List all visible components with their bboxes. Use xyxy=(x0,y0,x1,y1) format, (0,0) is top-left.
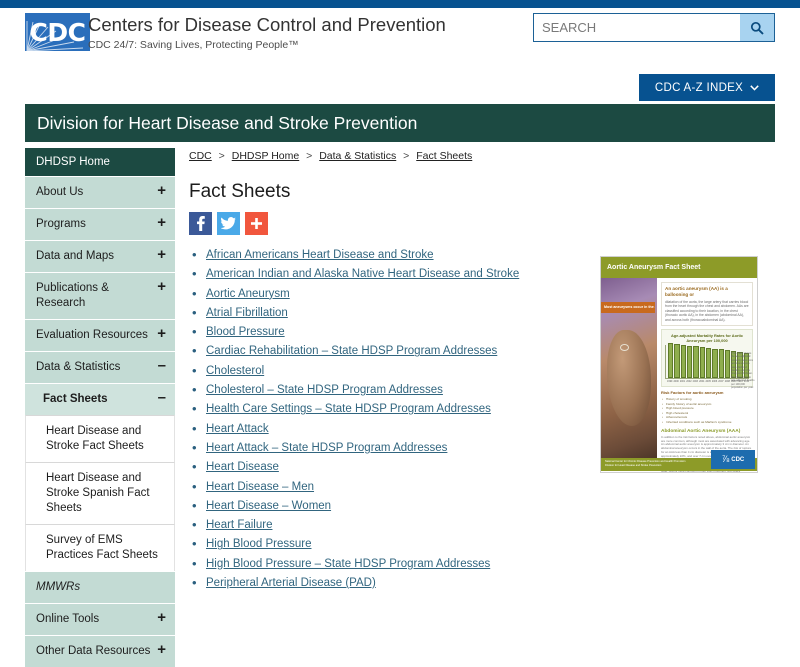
collapse-minus-icon[interactable]: – xyxy=(158,358,166,374)
thumbnail-chart-title: Age-adjusted Mortality Rates for Aortic … xyxy=(665,333,749,343)
chart-bar xyxy=(706,348,711,378)
division-banner: Division for Heart Disease and Stroke Pr… xyxy=(25,104,775,142)
sidebar-item-online-tools[interactable]: Online Tools + xyxy=(25,603,175,635)
sidebar-subitem-label: Heart Disease and Stroke Fact Sheets xyxy=(46,425,144,452)
chart-tick: 2007 xyxy=(718,380,723,383)
chart-bar xyxy=(687,346,692,378)
chart-tick: 2003 xyxy=(693,380,698,383)
sidebar-item-dhdsp-home[interactable]: DHDSP Home xyxy=(25,148,175,176)
chart-bar xyxy=(668,343,673,378)
fact-sheet-link[interactable]: Health Care Settings – State HDSP Progra… xyxy=(206,403,491,415)
search-button[interactable] xyxy=(740,14,774,41)
thumbnail-title: Aortic Aneurysm Fact Sheet xyxy=(607,264,701,271)
fact-sheet-link[interactable]: Heart Attack – State HDSP Program Addres… xyxy=(206,442,447,454)
sidebar-item-label: Programs xyxy=(36,218,86,230)
twitter-share-button[interactable] xyxy=(217,212,240,235)
sidebar-item-other-data-resources[interactable]: Other Data Resources + xyxy=(25,635,175,667)
breadcrumb-item-dhdsp-home[interactable]: DHDSP Home xyxy=(232,150,300,162)
cdc-az-index-button[interactable]: CDC A-Z INDEX xyxy=(639,74,775,101)
list-item: African Americans Heart Disease and Stro… xyxy=(189,249,589,262)
chart-tick: 2001 xyxy=(680,380,685,383)
list-item: Inherited conditions such as Marfan's sy… xyxy=(666,420,753,425)
thumbnail-photo-hand xyxy=(607,330,651,426)
chart-bar xyxy=(725,350,730,378)
fact-sheet-link[interactable]: Peripheral Arterial Disease (PAD) xyxy=(206,577,376,589)
agency-title: Centers for Disease Control and Preventi… xyxy=(88,14,446,36)
expand-plus-icon[interactable]: + xyxy=(157,326,166,342)
sidebar-navigation: DHDSP Home About Us + Programs + Data an… xyxy=(25,148,175,667)
chart-tick: 2006 xyxy=(712,380,717,383)
sidebar-item-label: Evaluation Resources xyxy=(36,329,148,341)
sidebar-item-label: Other Data Resources xyxy=(36,645,150,657)
thumbnail-chart-note: This graph shows the age-adjusted mortal… xyxy=(731,352,755,389)
fact-sheet-thumbnail[interactable]: Aortic Aneurysm Fact Sheet Most aneurysm… xyxy=(600,256,758,473)
sidebar-item-label: Online Tools xyxy=(36,613,99,625)
fact-sheet-link-list: African Americans Heart Disease and Stro… xyxy=(189,249,589,590)
sidebar-item-programs[interactable]: Programs + xyxy=(25,208,175,240)
chevron-down-icon xyxy=(750,85,759,91)
list-item: Heart Failure xyxy=(189,519,589,532)
sidebar-item-label: DHDSP Home xyxy=(36,156,110,168)
sidebar-item-label: About Us xyxy=(36,186,83,198)
more-share-button[interactable] xyxy=(245,212,268,235)
sidebar-item-label: Publications & Research xyxy=(36,282,109,309)
expand-plus-icon[interactable]: + xyxy=(157,183,166,199)
thumbnail-risk-list: History of smoking Family history of aor… xyxy=(661,397,753,425)
expand-plus-icon[interactable]: + xyxy=(157,642,166,658)
sidebar-subitem-label: Survey of EMS Practices Fact Sheets xyxy=(46,534,158,561)
fact-sheet-link[interactable]: Blood Pressure xyxy=(206,326,285,338)
fact-sheet-link[interactable]: Atrial Fibrillation xyxy=(206,307,288,319)
masthead-text-block: Centers for Disease Control and Preventi… xyxy=(88,14,446,51)
social-share-row xyxy=(189,212,589,235)
sidebar-item-fact-sheets[interactable]: Fact Sheets – xyxy=(25,383,175,415)
caduceus-icon: ⅞ xyxy=(722,455,730,464)
plus-icon xyxy=(250,217,263,230)
twitter-icon xyxy=(221,217,236,230)
sidebar-subitem-spanish-fact-sheets[interactable]: Heart Disease and Stroke Spanish Fact Sh… xyxy=(25,462,175,524)
top-accent-bar xyxy=(0,0,800,8)
breadcrumb-separator: > xyxy=(403,150,409,162)
sidebar-subitem-heart-disease-stroke-fact-sheets[interactable]: Heart Disease and Stroke Fact Sheets xyxy=(25,415,175,462)
chart-tick: 2004 xyxy=(699,380,704,383)
fact-sheet-link[interactable]: Cholesterol – State HDSP Program Address… xyxy=(206,384,443,396)
list-item: High Blood Pressure xyxy=(189,538,589,551)
thumbnail-photo-ring xyxy=(620,344,629,351)
cdc-logo[interactable]: CDC xyxy=(25,13,90,51)
sidebar-item-evaluation-resources[interactable]: Evaluation Resources + xyxy=(25,319,175,351)
list-item: Heart Disease xyxy=(189,461,589,474)
sidebar-item-data-and-maps[interactable]: Data and Maps + xyxy=(25,240,175,272)
chart-tick: 1999 xyxy=(667,380,672,383)
breadcrumb-item-cdc[interactable]: CDC xyxy=(189,150,212,162)
list-item: Cholesterol xyxy=(189,365,589,378)
thumbnail-footer-text: National Center for Chronic Disease Prev… xyxy=(605,460,685,468)
fact-sheet-link[interactable]: American Indian and Alaska Native Heart … xyxy=(206,268,519,280)
sidebar-item-publications-research[interactable]: Publications & Research + xyxy=(25,272,175,319)
chart-tick: 2000 xyxy=(673,380,678,383)
fact-sheet-link[interactable]: Heart Disease – Women xyxy=(206,500,331,512)
search-input[interactable] xyxy=(534,14,740,41)
chart-bar xyxy=(719,349,724,378)
thumbnail-body: Most aneurysms occur in the aorta An aor… xyxy=(601,278,757,458)
breadcrumb-item-fact-sheets[interactable]: Fact Sheets xyxy=(416,150,472,162)
sidebar-subitem-label: Heart Disease and Stroke Spanish Fact Sh… xyxy=(46,472,150,514)
fact-sheet-link[interactable]: Cardiac Rehabilitation – State HDSP Prog… xyxy=(206,345,497,357)
fact-sheet-link[interactable]: Cholesterol xyxy=(206,365,264,377)
thumbnail-lead: An aortic aneurysm (AA) is a ballooning … xyxy=(661,282,753,326)
thumbnail-risk-title: Risk Factors for aortic aneurysm xyxy=(661,390,753,395)
breadcrumb-separator: > xyxy=(219,150,225,162)
breadcrumb-item-data-statistics[interactable]: Data & Statistics xyxy=(319,150,396,162)
chart-bar xyxy=(681,345,686,378)
thumbnail-lead-sub: dilatation of the aorta, the large arter… xyxy=(665,300,749,322)
fact-sheet-link[interactable]: High Blood Pressure xyxy=(206,538,311,550)
list-item: Heart Disease – Women xyxy=(189,500,589,513)
sidebar-item-about-us[interactable]: About Us + xyxy=(25,176,175,208)
chart-bar xyxy=(712,349,717,378)
list-item: Blood Pressure xyxy=(189,326,589,339)
sidebar-item-label: Fact Sheets xyxy=(43,393,108,405)
sidebar-item-label: Data and Maps xyxy=(36,250,114,262)
sidebar-item-label: MMWRs xyxy=(36,581,80,593)
collapse-minus-icon[interactable]: – xyxy=(158,390,166,406)
thumbnail-badge-text: CDC xyxy=(731,457,744,463)
list-item: Cholesterol – State HDSP Program Address… xyxy=(189,384,589,397)
list-item: Heart Attack – State HDSP Program Addres… xyxy=(189,442,589,455)
breadcrumb-separator: > xyxy=(306,150,312,162)
fact-sheet-link[interactable]: Heart Disease xyxy=(206,461,279,473)
thumbnail-photo-caption: Most aneurysms occur in the aorta xyxy=(601,302,655,313)
thumbnail-cdc-badge: ⅞ CDC xyxy=(711,450,755,469)
expand-plus-icon[interactable]: + xyxy=(157,247,166,263)
main-content: CDC > DHDSP Home > Data & Statistics > F… xyxy=(189,150,589,596)
breadcrumb: CDC > DHDSP Home > Data & Statistics > F… xyxy=(189,150,589,162)
list-item: Heart Disease – Men xyxy=(189,481,589,494)
chart-tick: 2005 xyxy=(705,380,710,383)
list-item: American Indian and Alaska Native Heart … xyxy=(189,268,589,281)
thumbnail-header: Aortic Aneurysm Fact Sheet xyxy=(601,257,757,278)
fact-sheet-link[interactable]: High Blood Pressure – State HDSP Program… xyxy=(206,558,490,570)
division-title: Division for Heart Disease and Stroke Pr… xyxy=(37,113,417,134)
sidebar-item-mmwrs[interactable]: MMWRs xyxy=(25,571,175,603)
cdc-az-index-label: CDC A-Z INDEX xyxy=(655,82,743,94)
fact-sheet-link[interactable]: Heart Attack xyxy=(206,423,269,435)
fact-sheet-link[interactable]: Heart Failure xyxy=(206,519,272,531)
fact-sheet-link[interactable]: Aortic Aneurysm xyxy=(206,288,290,300)
page-title: Fact Sheets xyxy=(189,181,589,203)
list-item: High Blood Pressure – State HDSP Program… xyxy=(189,558,589,571)
facebook-icon xyxy=(196,216,205,231)
list-item: Heart Attack xyxy=(189,423,589,436)
agency-tagline: CDC 24/7: Saving Lives, Protecting Peopl… xyxy=(88,39,446,51)
list-item: Cardiac Rehabilitation – State HDSP Prog… xyxy=(189,345,589,358)
sidebar-subitem-survey-ems-fact-sheets[interactable]: Survey of EMS Practices Fact Sheets xyxy=(25,524,175,571)
expand-plus-icon[interactable]: + xyxy=(157,610,166,626)
expand-plus-icon[interactable]: + xyxy=(157,279,166,295)
search-icon xyxy=(750,21,764,35)
list-item: Atrial Fibrillation xyxy=(189,307,589,320)
sidebar-item-label: Data & Statistics xyxy=(36,361,120,373)
fact-sheet-link[interactable]: African Americans Heart Disease and Stro… xyxy=(206,249,434,261)
thumbnail-footer: National Center for Chronic Disease Prev… xyxy=(601,458,757,471)
thumbnail-photo-caption-text: Most aneurysms occur in the aorta xyxy=(601,302,655,309)
list-item: Peripheral Arterial Disease (PAD) xyxy=(189,577,589,590)
thumbnail-footer-line: Division for Heart Disease and Stroke Pr… xyxy=(605,464,685,468)
list-item: Aortic Aneurysm xyxy=(189,288,589,301)
thumbnail-lead-title: An aortic aneurysm (AA) is a ballooning … xyxy=(665,286,728,297)
chart-bar xyxy=(700,347,705,378)
sidebar-item-data-statistics[interactable]: Data & Statistics – xyxy=(25,351,175,383)
facebook-share-button[interactable] xyxy=(189,212,212,235)
thumbnail-section-title: Abdominal Aortic Aneurysm (AAA) xyxy=(661,429,753,434)
chart-tick: 2008 xyxy=(725,380,730,383)
search-container[interactable] xyxy=(533,13,775,42)
chart-bar xyxy=(674,344,679,378)
chart-bar xyxy=(693,346,698,378)
expand-plus-icon[interactable]: + xyxy=(157,215,166,231)
list-item: Health Care Settings – State HDSP Progra… xyxy=(189,403,589,416)
chart-tick: 2002 xyxy=(686,380,691,383)
cdc-logo-text: CDC xyxy=(25,13,90,51)
fact-sheet-link[interactable]: Heart Disease – Men xyxy=(206,481,314,493)
